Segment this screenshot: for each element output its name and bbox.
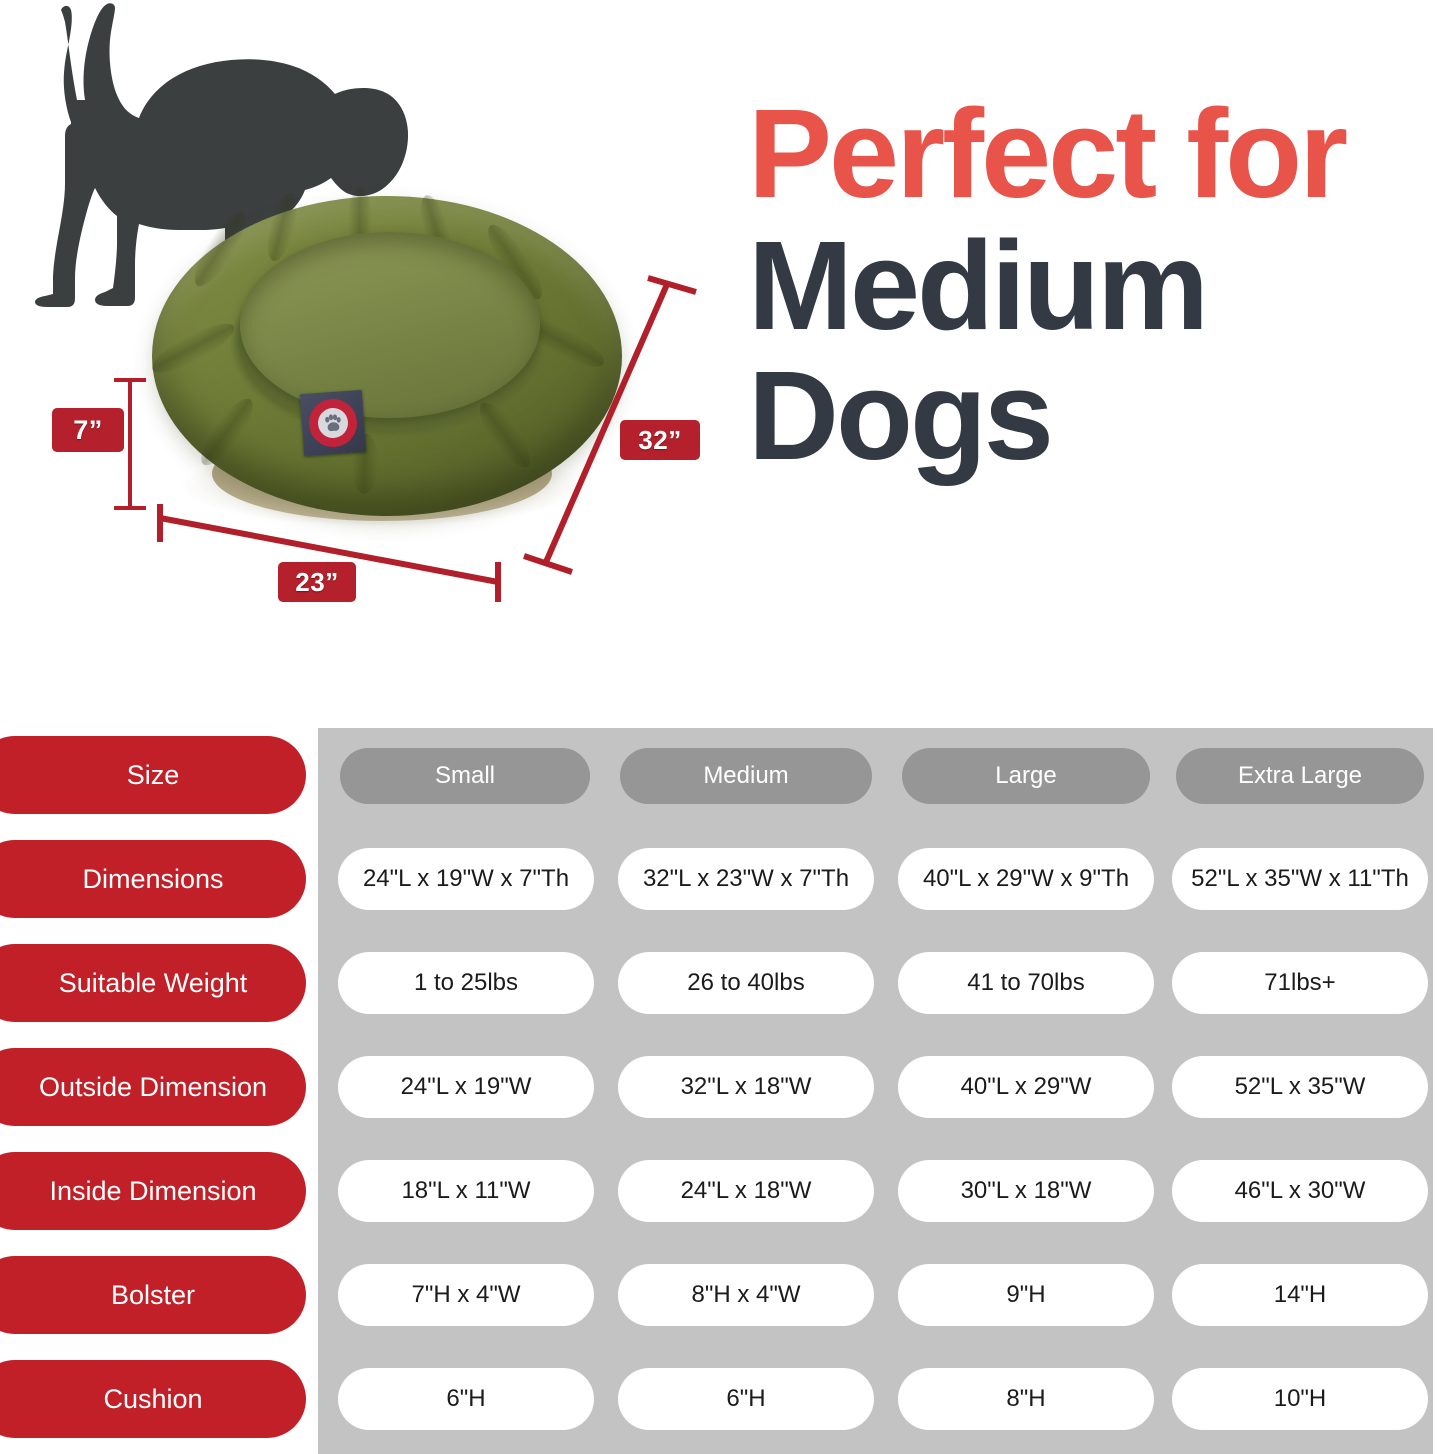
product-infographic: 7” 32” 23” Perfect for Medium Dogs Size … (0, 0, 1445, 1454)
headline-line-1: Perfect for (748, 96, 1438, 212)
bolster-fold (186, 206, 254, 293)
majestic-pet-logo-tag (300, 390, 366, 456)
cell-weight-large: 41 to 70lbs (898, 952, 1154, 1014)
column-header-extra-large: Extra Large (1176, 748, 1424, 804)
row-label-suitable-weight: Suitable Weight (0, 944, 306, 1022)
headline-block: Perfect for Medium Dogs (748, 96, 1438, 474)
cell-bolster-medium: 8"H x 4"W (618, 1264, 874, 1326)
size-spec-table: Size Dimensions Suitable Weight Outside … (0, 710, 1445, 1454)
column-header-large: Large (902, 748, 1150, 804)
cell-cushion-medium: 6"H (618, 1368, 874, 1430)
cell-dimensions-medium: 32"L x 23"W x 7"Th (618, 848, 874, 910)
headline-line-2: Medium (748, 228, 1438, 344)
headline-line-3: Dogs (748, 358, 1438, 474)
length-dimension-badge: 32” (620, 420, 700, 460)
cell-dimensions-small: 24"L x 19"W x 7"Th (338, 848, 594, 910)
row-label-bolster: Bolster (0, 1256, 306, 1334)
cell-cushion-extra-large: 10"H (1172, 1368, 1428, 1430)
height-dimension-cap-top (114, 378, 146, 382)
paw-print-icon (321, 411, 344, 434)
cell-dimensions-extra-large: 52"L x 35"W x 11"Th (1172, 848, 1428, 910)
cell-inside-large: 30"L x 18"W (898, 1160, 1154, 1222)
logo-inner-disc (317, 407, 349, 439)
cell-inside-small: 18"L x 11"W (338, 1160, 594, 1222)
cell-bolster-small: 7"H x 4"W (338, 1264, 594, 1326)
cell-outside-large: 40"L x 29"W (898, 1056, 1154, 1118)
bolster-fold (193, 392, 261, 472)
row-label-outside-dimension: Outside Dimension (0, 1048, 306, 1126)
cell-dimensions-large: 40"L x 29"W x 9"Th (898, 848, 1154, 910)
cell-outside-medium: 32"L x 18"W (618, 1056, 874, 1118)
width-dimension-badge: 23” (278, 562, 356, 602)
hero-section: 7” 32” 23” Perfect for Medium Dogs (0, 0, 1445, 710)
table-label-column: Size Dimensions Suitable Weight Outside … (0, 710, 318, 1454)
cell-bolster-extra-large: 14"H (1172, 1264, 1428, 1326)
cell-cushion-large: 8"H (898, 1368, 1154, 1430)
cell-outside-small: 24"L x 19"W (338, 1056, 594, 1118)
logo-circle (307, 397, 358, 448)
row-label-dimensions: Dimensions (0, 840, 306, 918)
cell-bolster-large: 9"H (898, 1264, 1154, 1326)
height-dimension-line (128, 378, 132, 510)
cell-inside-medium: 24"L x 18"W (618, 1160, 874, 1222)
cell-weight-small: 1 to 25lbs (338, 952, 594, 1014)
cell-cushion-small: 6"H (338, 1368, 594, 1430)
cell-weight-medium: 26 to 40lbs (618, 952, 874, 1014)
cell-weight-extra-large: 71lbs+ (1172, 952, 1428, 1014)
cell-outside-extra-large: 52"L x 35"W (1172, 1056, 1428, 1118)
bolster-fold (146, 315, 239, 381)
column-header-medium: Medium (620, 748, 872, 804)
height-dimension-badge: 7” (52, 408, 124, 452)
cell-inside-extra-large: 46"L x 30"W (1172, 1160, 1428, 1222)
row-label-cushion: Cushion (0, 1360, 306, 1438)
column-header-small: Small (340, 748, 590, 804)
bed-cushion (240, 232, 540, 418)
row-label-inside-dimension: Inside Dimension (0, 1152, 306, 1230)
row-label-size: Size (0, 736, 306, 814)
